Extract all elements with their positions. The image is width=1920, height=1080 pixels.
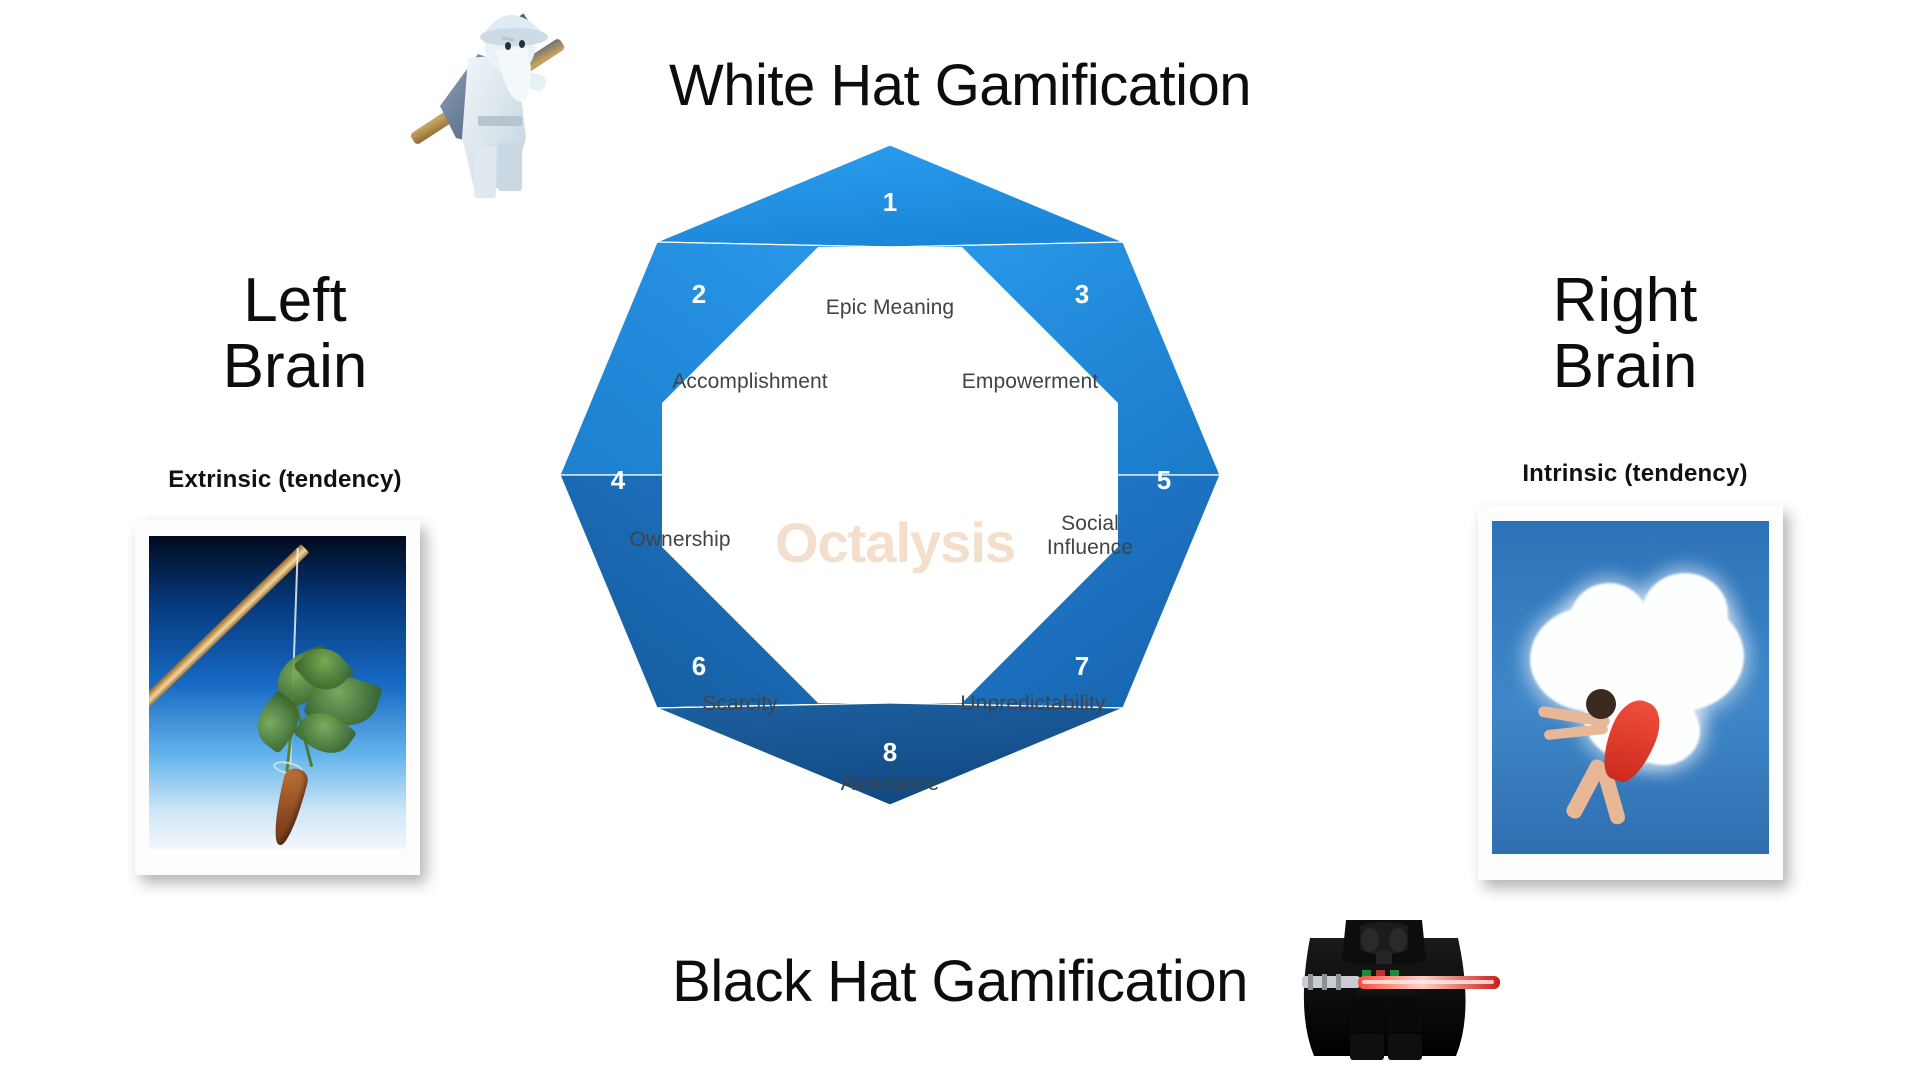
segment-number-5: 5 bbox=[1157, 465, 1171, 495]
segment-number-7: 7 bbox=[1075, 651, 1089, 681]
core-drive-label-accomplishment: Accomplishment bbox=[640, 370, 860, 394]
social-influence-line-2: Influence bbox=[1010, 536, 1170, 560]
right-brain-line-1: Right bbox=[1470, 268, 1780, 334]
left-brain-line-1: Left bbox=[140, 268, 450, 334]
carrot-on-stick-image bbox=[149, 536, 406, 849]
left-brain-line-2: Brain bbox=[140, 334, 450, 400]
octalysis-wordmark: Octalysis bbox=[760, 510, 1030, 575]
segment-number-8: 8 bbox=[883, 737, 897, 767]
cloud-lobe bbox=[1570, 583, 1648, 657]
core-drive-label-avoidance: Avoidance bbox=[760, 772, 1020, 796]
right-brain-line-2: Brain bbox=[1470, 334, 1780, 400]
black-hat-gamification-heading: Black Hat Gamification bbox=[0, 948, 1920, 1015]
segment-number-3: 3 bbox=[1075, 279, 1089, 309]
extrinsic-carrot-photo bbox=[135, 520, 420, 875]
segment-number-2: 2 bbox=[692, 279, 706, 309]
white-hat-gamification-heading: White Hat Gamification bbox=[0, 52, 1920, 119]
core-drive-label-scarcity: Scarcity bbox=[640, 692, 840, 716]
social-influence-line-1: Social bbox=[1010, 512, 1170, 536]
cloud-lobe bbox=[1642, 573, 1728, 653]
octalysis-framework-slide: White Hat Gamification bbox=[0, 0, 1920, 1080]
core-drive-label-ownership: Ownership bbox=[590, 528, 770, 552]
core-drive-label-epic-meaning: Epic Meaning bbox=[760, 296, 1020, 320]
core-drive-label-unpredictability: Unpredictability bbox=[908, 692, 1158, 716]
segment-number-6: 6 bbox=[692, 651, 706, 681]
left-brain-heading: Left Brain bbox=[140, 268, 450, 399]
core-drive-label-social-influence: Social Influence bbox=[1010, 512, 1170, 559]
right-brain-heading: Right Brain bbox=[1470, 268, 1780, 399]
core-drive-label-empowerment: Empowerment bbox=[920, 370, 1140, 394]
intrinsic-tendency-label: Intrinsic (tendency) bbox=[1440, 460, 1830, 488]
segment-number-4: 4 bbox=[611, 465, 626, 495]
intrinsic-dancer-photo bbox=[1478, 505, 1783, 880]
extrinsic-tendency-label: Extrinsic (tendency) bbox=[90, 466, 480, 494]
segment-number-1: 1 bbox=[883, 187, 897, 217]
dancer-heart-cloud-image bbox=[1492, 521, 1769, 854]
